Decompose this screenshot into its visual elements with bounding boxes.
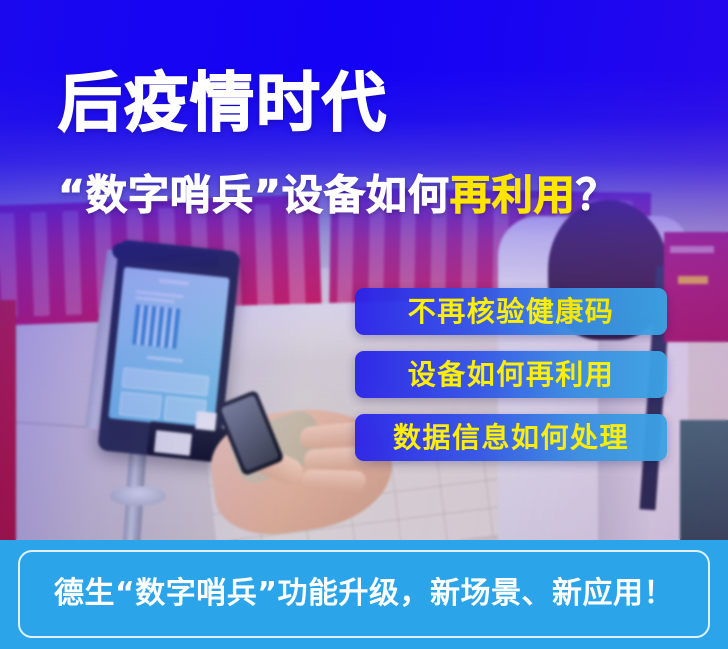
topic-pill-data-handling[interactable]: 数据信息如何处理 bbox=[355, 414, 667, 461]
topic-pill-label: 设备如何再利用 bbox=[408, 361, 615, 389]
photo-fence-slat bbox=[254, 204, 274, 308]
photo-right-dark-panel bbox=[680, 420, 728, 540]
photo-kiosk-screen bbox=[108, 267, 229, 429]
topic-pill-list: 不再核验健康码 设备如何再利用 数据信息如何处理 bbox=[355, 288, 667, 461]
photo-kiosk-base-plate bbox=[110, 486, 166, 506]
photo-screen-text-line-2 bbox=[135, 296, 175, 303]
topic-pill-label: 数据信息如何处理 bbox=[393, 424, 629, 452]
photo-red-strip bbox=[0, 300, 16, 540]
bottom-banner: 德生“数字哨兵”功能升级，新场景、新应用！ bbox=[0, 540, 728, 649]
topic-pill-device-reuse[interactable]: 设备如何再利用 bbox=[355, 351, 667, 398]
photo-pink-sign-line-1 bbox=[670, 246, 714, 253]
photo-screen-qr-code bbox=[132, 304, 180, 348]
photo-kiosk-white-chip bbox=[195, 411, 217, 431]
page-subtitle: “数字哨兵”设备如何再利用？ bbox=[58, 175, 618, 216]
photo-screen-button-left bbox=[119, 391, 162, 419]
page-title: 后疫情时代 bbox=[58, 72, 388, 136]
photo-pink-sign bbox=[664, 232, 728, 342]
topic-pill-label: 不再核验健康码 bbox=[408, 298, 615, 326]
photo-pink-sign-line-2 bbox=[678, 276, 708, 284]
photo-fence-slat bbox=[30, 212, 50, 316]
photo-fence-slat bbox=[62, 211, 82, 315]
subtitle-highlight: 再利用 bbox=[450, 171, 576, 219]
bottom-banner-frame: 德生“数字哨兵”功能升级，新场景、新应用！ bbox=[18, 550, 710, 638]
subtitle-prefix: “数字哨兵”设备如何 bbox=[58, 171, 450, 219]
photo-screen-title-line bbox=[159, 279, 189, 286]
photo-finger-3 bbox=[302, 469, 367, 491]
poster-root: 后疫情时代 “数字哨兵”设备如何再利用？ 不再核验健康码 设备如何再利用 数据信… bbox=[0, 0, 728, 649]
subtitle-question-mark: ？ bbox=[576, 171, 618, 219]
topic-pill-health-code[interactable]: 不再核验健康码 bbox=[355, 288, 667, 335]
photo-kiosk-label-sticker bbox=[154, 430, 192, 456]
photo-screen-text-line-3 bbox=[147, 356, 183, 363]
bottom-banner-text: 德生“数字哨兵”功能升级，新场景、新应用！ bbox=[54, 579, 674, 609]
